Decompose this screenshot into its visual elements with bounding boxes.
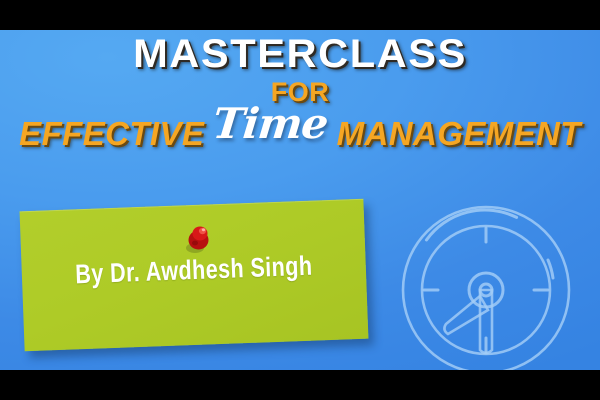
- title-line-masterclass: MASTERCLASS: [0, 34, 600, 74]
- sticky-note: By Dr. Awdhesh Singh: [20, 199, 369, 352]
- title-word-effective: EFFECTIVE: [19, 117, 204, 150]
- letterbox-bottom: [0, 370, 600, 400]
- letterbox-top: [0, 0, 600, 30]
- title-line-three: EFFECTIVE Time MANAGEMENT: [0, 110, 600, 152]
- title-block: MASTERCLASS FOR EFFECTIVE Time MANAGEMEN…: [0, 30, 600, 152]
- clock-icon: [398, 172, 574, 370]
- title-word-management: MANAGEMENT: [337, 117, 581, 150]
- title-word-time-script: Time: [211, 103, 330, 145]
- presenter-name: By Dr. Awdhesh Singh: [56, 250, 332, 291]
- thumbnail-canvas: MASTERCLASS FOR EFFECTIVE Time MANAGEMEN…: [0, 30, 600, 370]
- video-thumbnail: MASTERCLASS FOR EFFECTIVE Time MANAGEMEN…: [0, 0, 600, 400]
